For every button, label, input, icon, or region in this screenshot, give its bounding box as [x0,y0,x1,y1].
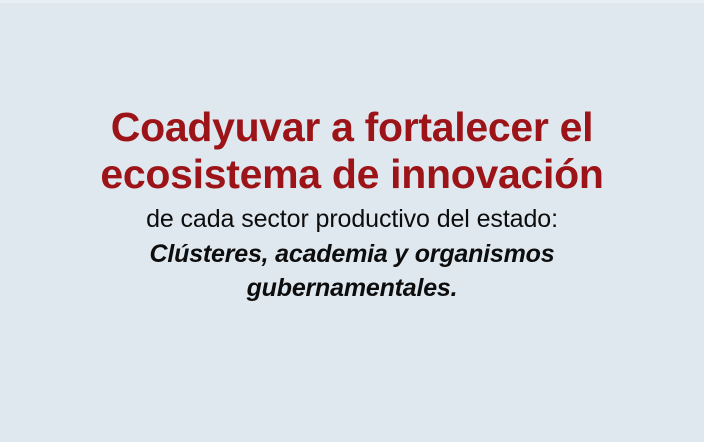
emphasis-text: Clústeres, academia y organismos guberna… [0,237,704,305]
subtitle-text: de cada sector productivo del estado: [0,202,704,236]
headline-line-1: Coadyuvar a fortalecer el [0,104,704,151]
slide-top-edge [0,0,704,3]
slide-canvas: Coadyuvar a fortalecer el ecosistema de … [0,0,704,442]
slide-text-block: Coadyuvar a fortalecer el ecosistema de … [0,104,704,305]
headline-line-2: ecosistema de innovación [0,151,704,198]
